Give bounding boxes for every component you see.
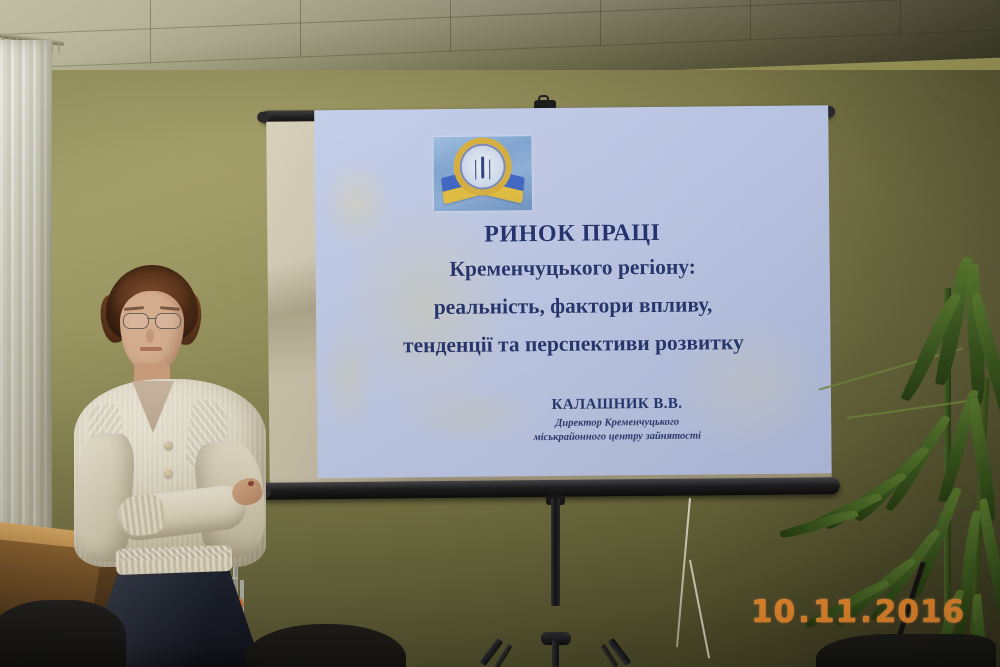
- slide-presenter-name: КАЛАШНИК В.В.: [317, 394, 831, 416]
- slide-presenter-role-line-1: Директор Кременчуцького: [317, 415, 831, 431]
- date-day: 10: [750, 594, 797, 630]
- date-year: 2016: [874, 594, 966, 630]
- camera-date-stamp: 10.11.2016: [750, 594, 966, 630]
- glasses-icon: [121, 313, 183, 328]
- cardigan-button: [164, 469, 173, 478]
- photograph-conference-presentation: РИНОК ПРАЦІ Кременчуцького регіону: реал…: [0, 0, 1000, 667]
- date-sep-2: .: [859, 594, 874, 630]
- ukrainian-state-employment-service-emblem-icon: [433, 136, 532, 211]
- date-sep-1: .: [797, 594, 812, 630]
- slide-title: РИНОК ПРАЦІ: [315, 218, 829, 250]
- slide-subtitle-line-3: тенденції та перспективи розвитку: [316, 329, 830, 359]
- date-month: 11: [812, 594, 859, 630]
- nose: [146, 329, 154, 343]
- window-curtain: [0, 40, 52, 550]
- projected-slide: РИНОК ПРАЦІ Кременчуцького регіону: реал…: [314, 105, 832, 478]
- foreground-chair-left: [0, 600, 126, 667]
- slide-subtitle-line-1: Кременчуцького регіону:: [316, 253, 830, 283]
- emblem-ring-icon: [453, 137, 512, 196]
- slide-subtitle-line-2: реальність, фактори впливу,: [316, 291, 830, 321]
- plant-arching-leaf: [846, 399, 975, 419]
- foreground-chair-right: [816, 634, 996, 667]
- projector-screen: РИНОК ПРАЦІ Кременчуцького регіону: реал…: [266, 105, 830, 500]
- tripod-leg-center: [552, 640, 559, 667]
- slide-content: РИНОК ПРАЦІ Кременчуцького регіону: реал…: [314, 105, 832, 478]
- cardigan-button: [164, 441, 173, 450]
- tripod-pole: [551, 498, 560, 606]
- slide-presenter-role-line-2: міськрайонного центру зайнятості: [317, 429, 831, 445]
- mouth: [140, 347, 162, 351]
- sleeve-cuff: [120, 493, 167, 538]
